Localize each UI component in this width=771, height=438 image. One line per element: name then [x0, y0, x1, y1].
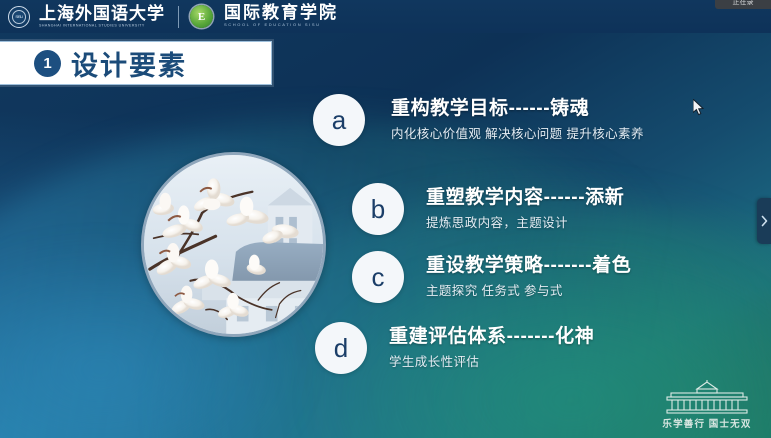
green-leaf-badge-icon: E — [190, 5, 213, 28]
university-name-en: SHANGHAI INTERNATIONAL STUDIES UNIVERSIT… — [39, 22, 165, 30]
bullet-letter-b: b — [352, 183, 404, 235]
list-item-title: 重构教学目标------铸魂 — [391, 97, 644, 121]
slide-header: SISU 上海外国语大学 SHANGHAI INTERNATIONAL STUD… — [0, 0, 771, 33]
list-item-title: 重塑教学内容------添新 — [426, 186, 624, 210]
school-name-block: 国际教育学院 SCHOOL OF EDUCATION SISU — [224, 4, 338, 29]
bullet-letter-a: a — [313, 94, 365, 146]
list-item-text: 重构教学目标------铸魂 内化核心价值观 解决核心问题 提升核心素养 — [391, 97, 644, 144]
recording-toolbar-label: 正在录 — [715, 0, 771, 7]
list-item-subtitle: 提炼思政内容，主题设计 — [426, 213, 624, 233]
list-item-subtitle: 学生成长性评估 — [389, 352, 594, 372]
panel-expand-handle[interactable] — [757, 198, 771, 244]
list-item[interactable]: c 重设教学策略-------着色 主题探究 任务式 参与式 — [352, 251, 631, 303]
university-name-cn: 上海外国语大学 — [39, 5, 165, 22]
content-list: a 重构教学目标------铸魂 内化核心价值观 解决核心问题 提升核心素养 b… — [0, 0, 771, 438]
list-item-text: 重塑教学内容------添新 提炼思政内容，主题设计 — [426, 186, 624, 233]
seal-inner-ring: SISU — [12, 10, 26, 24]
university-logo: SISU 上海外国语大学 SHANGHAI INTERNATIONAL STUD… — [0, 0, 165, 33]
campus-building-icon — [659, 380, 755, 414]
list-item[interactable]: b 重塑教学内容------添新 提炼思政内容，主题设计 — [352, 183, 624, 235]
university-name-block: 上海外国语大学 SHANGHAI INTERNATIONAL STUDIES U… — [39, 5, 165, 29]
list-item-text: 重设教学策略-------着色 主题探究 任务式 参与式 — [426, 254, 631, 301]
emblem-motto: 乐学善行 国士无双 — [655, 416, 759, 430]
list-item-subtitle: 内化核心价值观 解决核心问题 提升核心素养 — [391, 124, 644, 144]
chevron-right-icon — [761, 215, 768, 227]
list-item-title: 重设教学策略-------着色 — [426, 254, 631, 278]
school-logo: E 国际教育学院 SCHOOL OF EDUCATION SISU — [190, 0, 338, 33]
campus-emblem: 乐学善行 国士无双 — [655, 380, 759, 430]
list-item-text: 重建评估体系-------化神 学生成长性评估 — [389, 325, 594, 372]
recording-toolbar-fragment[interactable]: 正在录 — [715, 0, 771, 9]
list-item[interactable]: a 重构教学目标------铸魂 内化核心价值观 解决核心问题 提升核心素养 — [313, 94, 644, 146]
bullet-letter-c: c — [352, 251, 404, 303]
bullet-letter-d: d — [315, 322, 367, 374]
university-seal-icon: SISU — [8, 6, 30, 28]
logo-divider — [178, 6, 179, 28]
list-item-title: 重建评估体系-------化神 — [389, 325, 594, 349]
presentation-slide: SISU 上海外国语大学 SHANGHAI INTERNATIONAL STUD… — [0, 0, 771, 438]
list-item[interactable]: d 重建评估体系-------化神 学生成长性评估 — [315, 322, 594, 374]
school-name-cn: 国际教育学院 — [224, 4, 338, 21]
list-item-subtitle: 主题探究 任务式 参与式 — [426, 281, 631, 301]
school-name-en: SCHOOL OF EDUCATION SISU — [224, 21, 338, 29]
